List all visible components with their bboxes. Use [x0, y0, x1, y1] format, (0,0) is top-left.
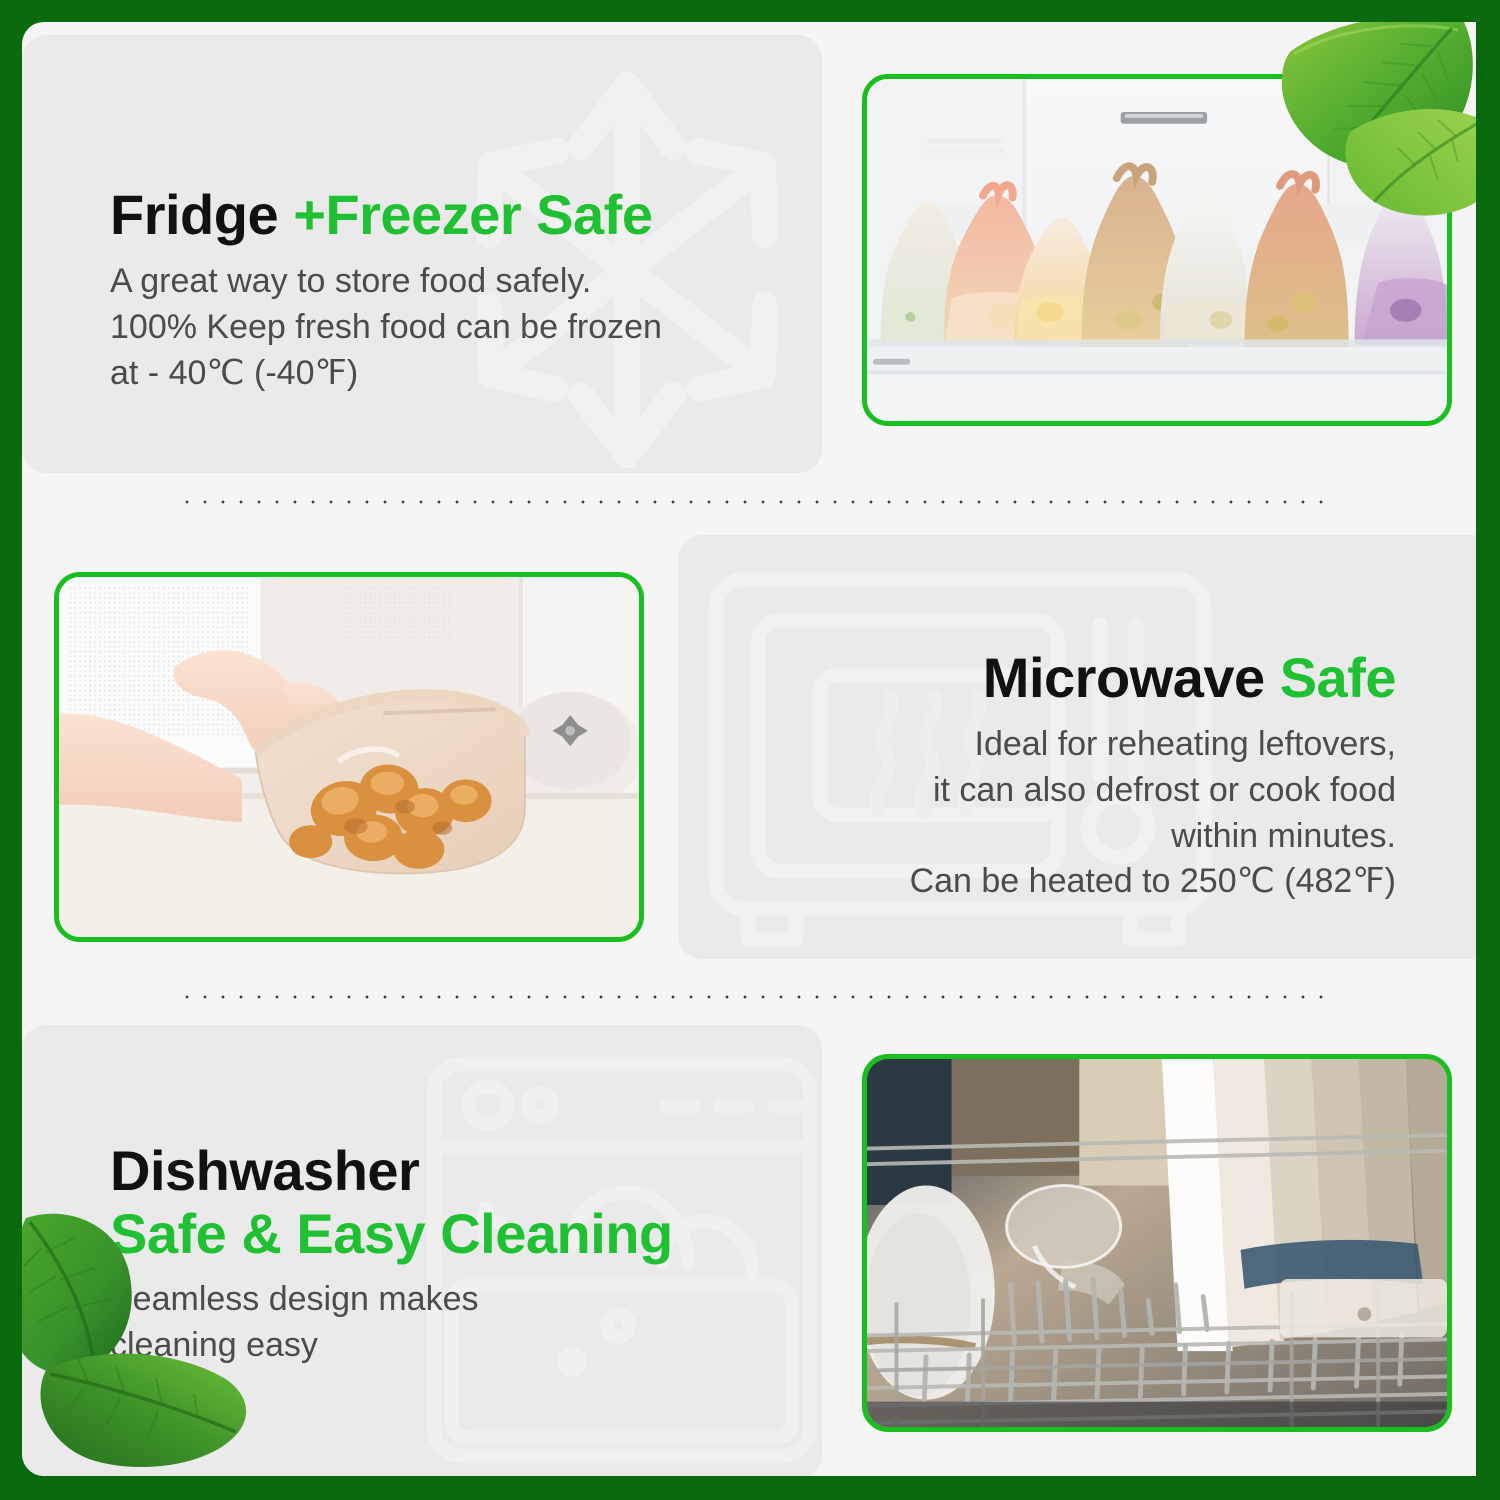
outer-green-frame: Fridge +Freezer Safe A great way to stor…: [0, 0, 1500, 1500]
microwave-text-block: Microwave Safe Ideal for reheating lefto…: [696, 647, 1396, 905]
dishwasher-body: Seamless design makes cleaning easy: [110, 1277, 810, 1369]
microwave-heading-black: Microwave: [983, 646, 1280, 709]
dishwasher-photo: [862, 1054, 1452, 1432]
fridge-photo: [862, 74, 1452, 426]
infographic-canvas: Fridge +Freezer Safe A great way to stor…: [22, 22, 1476, 1476]
microwave-body-line-3: within minutes.: [696, 814, 1396, 860]
fridge-heading-black: Fridge: [110, 183, 293, 246]
fridge-heading: Fridge +Freezer Safe: [110, 184, 810, 247]
microwave-heading: Microwave Safe: [696, 647, 1396, 710]
microwave-body-line-4: Can be heated to 250℃ (482℉): [696, 859, 1396, 905]
fridge-body-line-2: 100% Keep fresh food can be frozen: [110, 305, 810, 351]
divider-1: [178, 500, 1326, 504]
microwave-photo: [54, 572, 644, 942]
fridge-body-line-3: at - 40℃ (-40℉): [110, 351, 810, 397]
dishwasher-heading: Dishwasher: [110, 1140, 810, 1203]
dishwasher-body-line-2: cleaning easy: [110, 1323, 810, 1369]
divider-2: [178, 995, 1326, 999]
microwave-body-line-1: Ideal for reheating leftovers,: [696, 722, 1396, 768]
fridge-body-line-1: A great way to store food safely.: [110, 259, 810, 305]
fridge-heading-green: +Freezer Safe: [293, 183, 652, 246]
microwave-body-line-2: it can also defrost or cook food: [696, 768, 1396, 814]
dishwasher-subheading: Safe & Easy Cleaning: [110, 1203, 810, 1266]
microwave-heading-green: Safe: [1280, 646, 1396, 709]
dishwasher-body-line-1: Seamless design makes: [110, 1277, 810, 1323]
dishwasher-text-block: Dishwasher Safe & Easy Cleaning Seamless…: [110, 1140, 810, 1369]
fridge-body: A great way to store food safely. 100% K…: [110, 259, 810, 397]
fridge-text-block: Fridge +Freezer Safe A great way to stor…: [110, 184, 810, 396]
microwave-body: Ideal for reheating leftovers, it can al…: [696, 722, 1396, 906]
